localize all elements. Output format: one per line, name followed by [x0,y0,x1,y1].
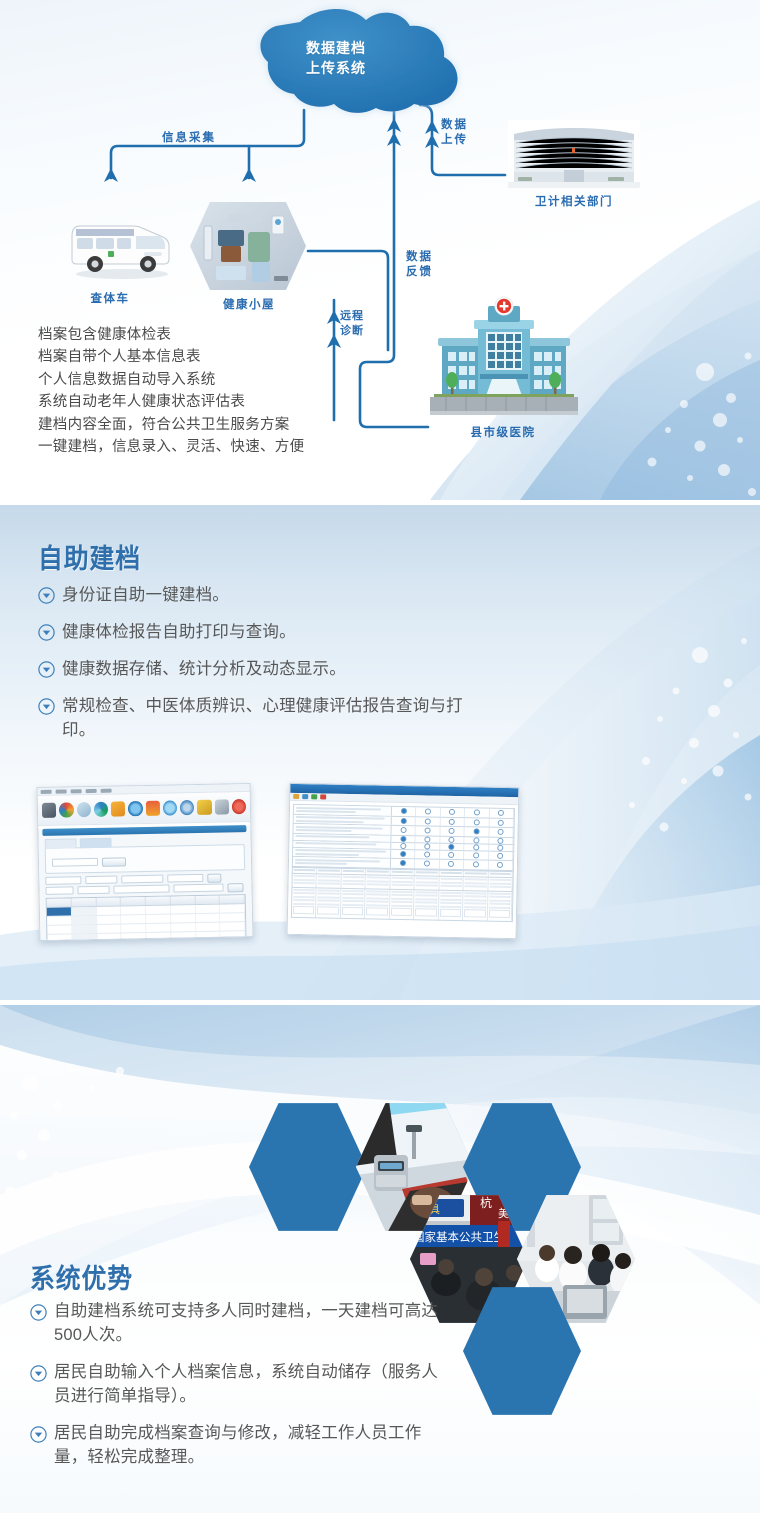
option-2[interactable] [416,836,441,842]
section3-title: 系统优势 [30,1257,133,1296]
toolbar-icon-chart [145,801,160,816]
flow-label-collect: 信息采集 [162,131,216,146]
toolbar-icon-pie [94,802,109,817]
cloud-label-line1: 数据建档 [276,38,396,58]
option-5[interactable] [489,851,514,860]
toolbar-icon-open[interactable] [293,794,299,799]
health-hut-photo [188,196,308,296]
flow-label-upload-line2: 上传 [441,133,468,148]
feature-item: 档案包含健康体检表 [38,324,304,346]
archive-feature-list: 档案包含健康体检表 档案自带个人基本信息表 个人信息数据自动导入系统 系统自动老… [38,324,304,458]
toolbar-icon-print[interactable] [311,794,317,799]
chevron-down-circle-icon [38,661,55,678]
chevron-down-circle-icon [38,698,55,715]
bullet-text: 自助建档系统可支持多人同时建档，一天建档可高达500人次。 [54,1299,454,1347]
search-icon [76,802,91,817]
caption-inspection-vehicle: 查体车 [70,290,150,306]
caption-health-authority: 卫计相关部门 [508,193,640,209]
menu-item [86,789,97,793]
feature-item: 系统自动老年人健康状态评估表 [38,391,304,413]
bullet-text: 常规检查、中医体质辨识、心理健康评估报告查询与打印。 [62,694,474,742]
cloud-label: 数据建档 上传系统 [276,38,396,78]
section3-bullet-list: 自助建档系统可支持多人同时建档，一天建档可高达500人次。 居民自助输入个人档案… [30,1299,490,1482]
menu-item [101,789,112,793]
bullet-item: 健康体检报告自助打印与查询。 [38,620,508,644]
column-header [170,896,195,904]
section-divider-2 [0,1000,760,1005]
archive-management-software-screenshot [37,783,254,941]
option-3[interactable] [440,817,465,826]
section-system-advantages: 杭 美发 家具 国家基本公共卫生 [0,1005,760,1513]
feature-item: 档案自带个人基本信息表 [38,346,304,368]
option-2[interactable] [415,843,440,849]
toolbar-icon-settings [128,801,143,816]
option-2[interactable] [416,807,441,816]
feature-item: 个人信息数据自动导入系统 [38,369,304,391]
option-2[interactable] [415,859,440,868]
option-3[interactable] [440,843,465,849]
feature-item: 一键建档，信息录入、灵活、快速、方便 [38,436,304,458]
flow-label-upload: 数据 上传 [441,118,468,148]
query-button[interactable] [102,857,126,866]
status-input[interactable] [167,874,203,883]
option-5[interactable] [489,809,514,818]
flow-label-feedback-line1: 数据 [406,250,433,265]
flow-diagram: 数据建档 上传系统 信息采集 数据 上传 数据 反馈 远程 诊断 [0,0,760,500]
org-input[interactable] [45,876,81,885]
section2-bullet-list: 身份证自助一键建档。 健康体检报告自助打印与查询。 健康数据存储、统计分析及动态… [38,583,508,755]
flow-label-upload-line1: 数据 [441,118,468,133]
assessment-form-screenshot [287,783,520,939]
option-2[interactable] [416,826,441,835]
tab-basic-info[interactable] [45,838,77,849]
option-1[interactable] [391,849,416,858]
criteria-row-1 [45,874,245,884]
constitution-advice-row[interactable] [291,887,514,921]
checkbox-group-2[interactable] [173,883,223,892]
flow-label-remote-line1: 远程 [340,309,364,324]
toolbar-icon-monitor [163,800,178,815]
option-3[interactable] [441,808,466,817]
toolbar-icon-exit [232,799,247,814]
id-input[interactable] [77,886,109,895]
column-header [121,897,146,905]
toolbar-icon-key [197,800,212,815]
option-5[interactable] [489,828,514,837]
option-3[interactable] [440,836,465,842]
option-4[interactable] [465,808,490,817]
menu-item [41,790,52,794]
health-authority-photo [508,120,640,188]
export-button[interactable] [227,883,243,892]
chevron-down-circle-icon [30,1304,47,1321]
reset-button[interactable] [207,873,221,882]
option-2[interactable] [415,850,440,859]
bullet-item: 常规检查、中医体质辨识、心理健康评估报告查询与打印。 [38,694,508,742]
software-toolbar [38,792,251,826]
caption-county-hospital: 县市级医院 [423,424,583,440]
bullet-item: 健康数据存储、统计分析及动态显示。 [38,657,508,681]
option-4[interactable] [465,827,490,836]
name-input[interactable] [45,886,73,895]
menu-item [56,789,67,793]
option-1[interactable] [392,807,417,816]
toolbar-icon-archive [42,803,57,818]
criteria-row-2 [45,884,245,894]
bullet-text: 健康数据存储、统计分析及动态显示。 [62,657,346,681]
tab-archive-stats[interactable] [80,838,112,849]
hex-solid-1 [249,1099,367,1235]
flow-label-feedback: 数据 反馈 [406,250,433,280]
flow-label-feedback-line2: 反馈 [406,265,433,280]
section-divider-1 [0,500,760,505]
type-input[interactable] [85,876,117,885]
toolbar-icon-refresh [180,800,195,815]
option-3[interactable] [440,850,465,859]
option-1[interactable] [391,859,416,868]
software-workspace [38,825,253,941]
column-header [146,897,171,905]
records-table[interactable] [46,894,247,941]
filter-panel [45,844,245,874]
toolbar-icon-close[interactable] [320,794,326,799]
checkbox-group[interactable] [113,885,169,894]
option-3[interactable] [440,827,465,836]
chevron-down-circle-icon [30,1365,47,1382]
questionnaire-body [287,801,518,939]
toolbar-icon-document [111,801,126,816]
cloud-label-line2: 上传系统 [276,58,396,78]
table-row[interactable] [48,940,246,941]
section-self-service-archiving: 自助建档 身份证自助一键建档。 健康体检报告自助打印与查询。 健康数据存储、统计… [0,505,760,1000]
section2-title: 自助建档 [38,537,141,576]
option-1[interactable] [391,826,416,835]
bullet-item: 居民自助输入个人档案信息，系统自动储存（服务人员进行简单指导）。 [30,1360,490,1408]
flow-label-remote: 远程 诊断 [340,309,364,339]
poster-page: 数据建档 上传系统 信息采集 数据 上传 数据 反馈 远程 诊断 [0,0,760,1513]
option-4[interactable] [464,860,489,869]
option-3[interactable] [440,860,465,869]
county-hospital-illustration [424,296,584,418]
caption-health-hut: 健康小屋 [203,296,295,312]
chevron-down-circle-icon [30,1426,47,1443]
option-5[interactable] [489,818,514,827]
section-data-flow-diagram: 数据建档 上传系统 信息采集 数据 上传 数据 反馈 远程 诊断 [0,0,760,500]
option-5[interactable] [488,861,513,870]
toolbar-icon-color-wheel [59,802,74,817]
svg-text:国家基本公共卫生: 国家基本公共卫生 [413,1230,505,1244]
section2-title-wrap: 自助建档 [38,537,150,576]
date-input[interactable] [52,858,98,867]
toolbar-icon-save[interactable] [302,794,308,799]
svg-text:杭: 杭 [480,1195,492,1210]
bullet-text: 身份证自助一键建档。 [62,583,229,607]
window-titlebar [42,825,246,836]
option-2[interactable] [416,817,441,826]
option-5[interactable] [489,837,514,843]
column-header [220,895,245,903]
option-5[interactable] [489,844,514,850]
option-4[interactable] [464,844,489,850]
toolbar-icon-tools [214,799,229,814]
date-range-input[interactable] [121,875,163,884]
option-1[interactable] [391,835,416,841]
option-1[interactable] [391,842,416,848]
menu-item [71,789,82,793]
column-header [71,898,96,906]
option-1[interactable] [391,816,416,825]
chevron-down-circle-icon [38,587,55,604]
option-4[interactable] [464,837,489,843]
option-4[interactable] [464,851,489,860]
column-header [195,896,220,904]
feature-item: 建档内容全面，符合公共卫生服务方案 [38,414,304,436]
bullet-item: 自助建档系统可支持多人同时建档，一天建档可高达500人次。 [30,1299,490,1347]
bullet-text: 居民自助完成档案查询与修改，减轻工作人员工作量，轻松完成整理。 [54,1421,454,1469]
bullet-item: 身份证自助一键建档。 [38,583,508,607]
column-header [47,898,72,906]
option-4[interactable] [465,818,490,827]
bullet-text: 健康体检报告自助打印与查询。 [62,620,296,644]
bullet-item: 居民自助完成档案查询与修改，减轻工作人员工作量，轻松完成整理。 [30,1421,490,1469]
inspection-vehicle-photo [64,212,176,282]
flow-label-remote-line2: 诊断 [340,324,364,339]
chevron-down-circle-icon [38,624,55,641]
bullet-text: 居民自助输入个人档案信息，系统自动储存（服务人员进行简单指导）。 [54,1360,454,1408]
column-header [96,897,121,905]
section3-title-wrap: 系统优势 [30,1257,142,1296]
